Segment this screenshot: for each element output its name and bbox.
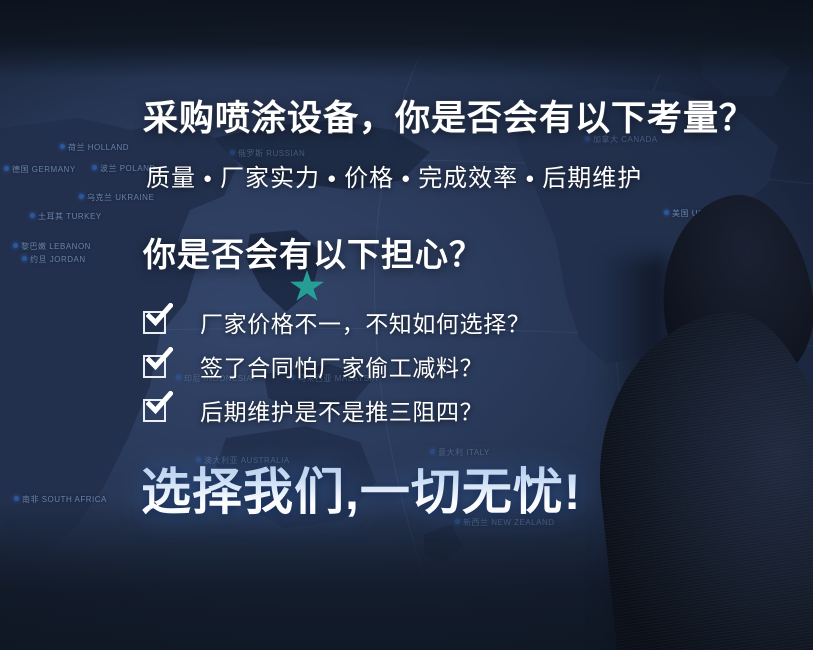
checkbox-checked-icon: [143, 311, 166, 334]
checklist-item: 后期维护是不是推三阻四？: [143, 391, 530, 429]
closing-tagline: 选择我们,一切无忧!: [141, 452, 582, 524]
subline-item: 价格: [344, 165, 394, 192]
promotional-banner: 荷兰 HOLLAND波兰 POLAND德国 GERMANY乌克兰 UKRAINE…: [0, 0, 813, 650]
checkbox-checked-icon: [143, 355, 166, 378]
banner-content: 采购喷涂设备，你是否会有以下考量？ 质量●厂家实力●价格●完成效率●后期维护 你…: [0, 0, 813, 650]
checklist-item: 签了合同怕厂家偷工减料？: [143, 347, 530, 385]
checklist-item-label: 后期维护是不是推三阻四？: [200, 393, 483, 427]
subline-item: 后期维护: [542, 165, 642, 192]
feature-subline: 质量●厂家实力●价格●完成效率●后期维护: [146, 158, 642, 193]
checklist-item-label: 签了合同怕厂家偷工减料？: [200, 349, 483, 383]
subline-item: 质量: [146, 165, 196, 192]
subline-separator: ●: [203, 170, 213, 187]
checkbox-checked-icon: [143, 399, 166, 422]
checkmark-icon: [146, 303, 173, 327]
subline-item: 厂家实力: [220, 165, 320, 192]
main-headline: 采购喷涂设备，你是否会有以下考量？: [143, 90, 755, 141]
secondary-headline: 你是否会有以下担心？: [143, 228, 483, 276]
checkmark-icon: [146, 391, 173, 415]
concern-checklist: 厂家价格不一，不知如何选择？签了合同怕厂家偷工减料？后期维护是不是推三阻四？: [143, 303, 530, 435]
subline-separator: ●: [327, 170, 337, 187]
subline-separator: ●: [401, 170, 411, 187]
checklist-item: 厂家价格不一，不知如何选择？: [143, 303, 530, 341]
subline-separator: ●: [525, 170, 535, 187]
checkmark-icon: [146, 347, 173, 371]
subline-item: 完成效率: [418, 165, 518, 192]
checklist-item-label: 厂家价格不一，不知如何选择？: [200, 305, 530, 339]
